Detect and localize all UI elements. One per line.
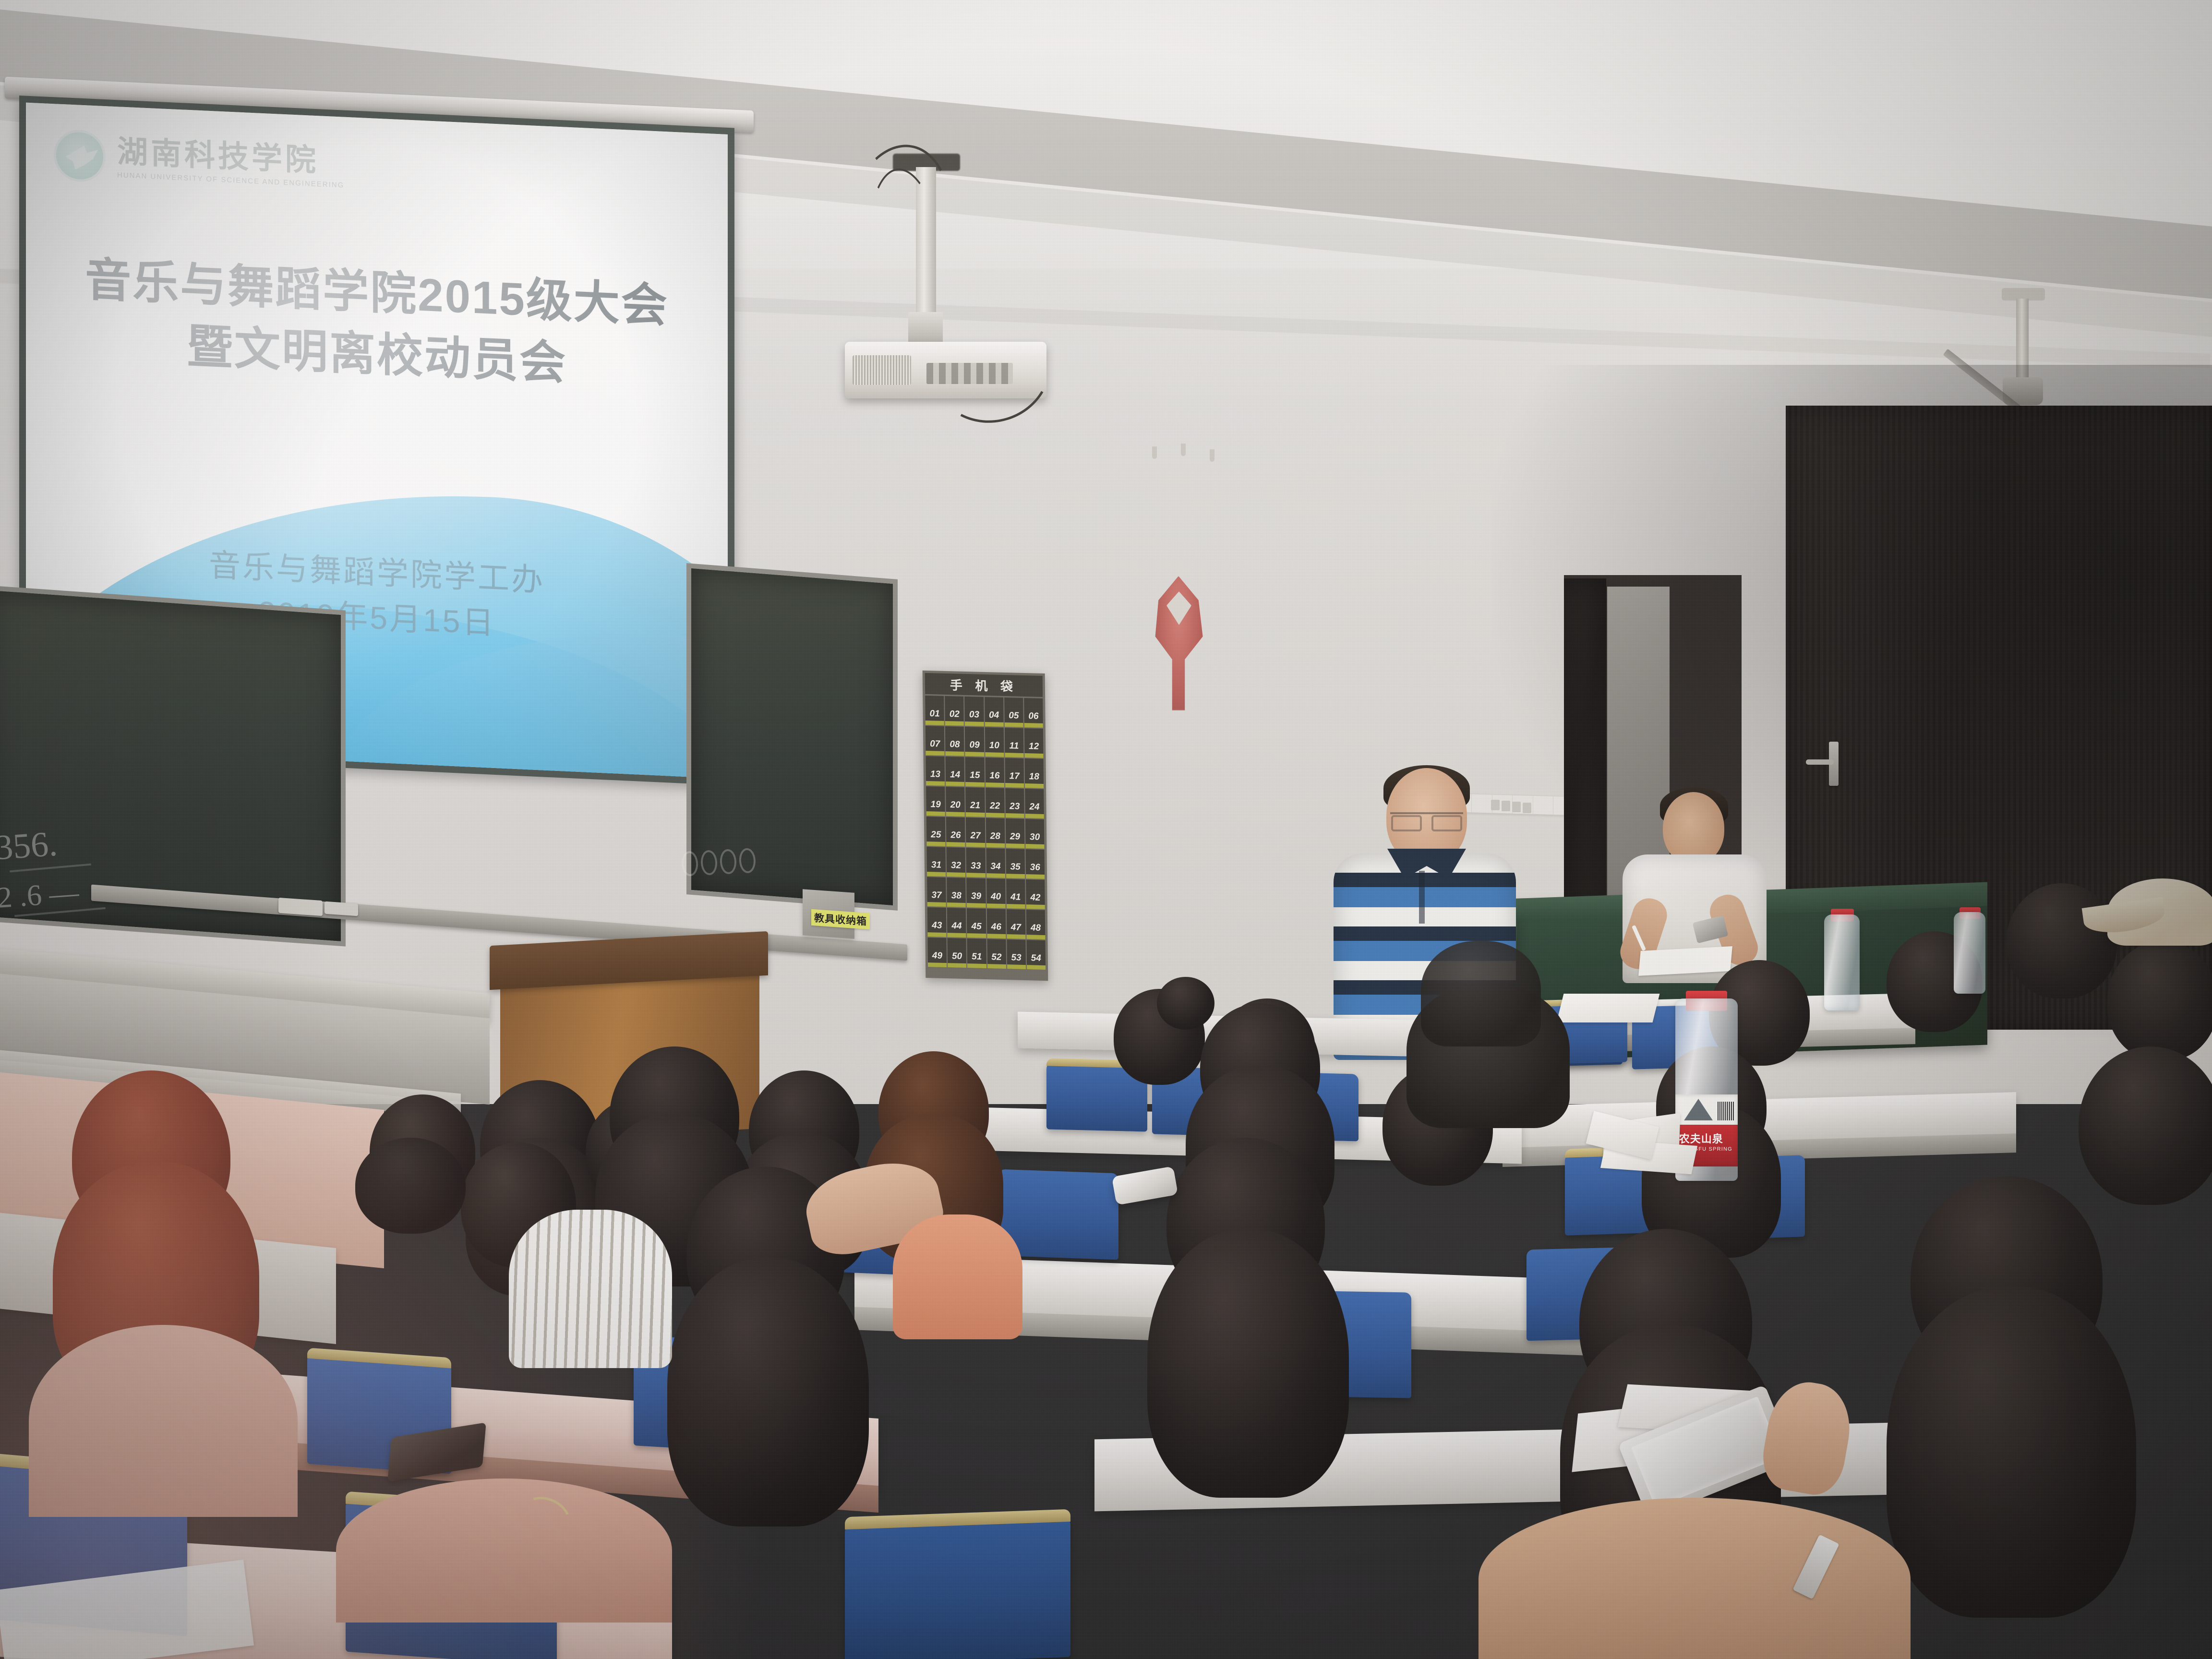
phone-pocket[interactable]: 22 — [986, 788, 1005, 817]
phone-pocket[interactable]: 14 — [946, 757, 965, 786]
phone-pocket[interactable]: 38 — [947, 878, 966, 907]
phone-pocket[interactable]: 50 — [948, 938, 967, 968]
chair[interactable] — [845, 1518, 1070, 1659]
phone-pocket[interactable]: 47 — [1006, 909, 1025, 939]
phone-pocket-number: 26 — [950, 830, 961, 841]
phone-pocket-number: 09 — [969, 740, 979, 751]
staff-note-taker — [1623, 787, 1767, 979]
phone-pocket-number: 11 — [1010, 741, 1019, 751]
phone-pocket-number: 12 — [1029, 741, 1039, 752]
note-paper — [1638, 946, 1732, 976]
university-logo: 湖南科技学院 HUNAN UNIVERSITY OF SCIENCE AND E… — [54, 129, 344, 193]
student-hair-long — [667, 1258, 869, 1527]
phone-pocket-number: 49 — [932, 950, 942, 962]
phone-pocket[interactable]: 42 — [1026, 879, 1045, 909]
phone-pocket[interactable]: 41 — [1006, 879, 1025, 909]
black-jacket — [1421, 941, 1541, 1046]
phone-pocket-number: 24 — [1029, 802, 1039, 813]
phone-pocket-number: 54 — [1031, 953, 1041, 964]
phone-pocket-number: 53 — [1011, 952, 1021, 963]
note-taker-head — [1663, 792, 1724, 864]
phone-pocket[interactable]: 04 — [985, 697, 1004, 727]
phone-pocket-number: 44 — [951, 921, 962, 932]
phone-pocket[interactable]: 18 — [1024, 758, 1044, 788]
phone-pocket[interactable]: 45 — [967, 908, 986, 938]
phone-pocket[interactable]: 08 — [945, 726, 964, 756]
phone-pocket[interactable]: 43 — [927, 907, 947, 937]
chalk-mark: 356. — [0, 824, 59, 869]
student-head — [2007, 883, 2117, 998]
bottle-body — [1954, 912, 1985, 994]
phone-pocket-number: 47 — [1011, 922, 1021, 933]
phone-pocket-number: 13 — [930, 769, 940, 780]
chalk-rings-mark — [681, 848, 757, 877]
phone-pocket-grid: 0102030405060708091011121314151617181920… — [925, 694, 1046, 970]
phone-pocket-number: 37 — [931, 890, 941, 901]
phone-pocket-number: 08 — [950, 739, 960, 750]
phone-pocket-number: 06 — [1028, 711, 1038, 722]
door-lever-handle[interactable] — [1806, 759, 1834, 765]
phone-pocket[interactable]: 11 — [1005, 728, 1024, 757]
phone-pocket-number: 04 — [989, 710, 999, 721]
phone-pocket-number: 20 — [950, 800, 961, 811]
phone-pocket-number: 19 — [930, 799, 940, 810]
phone-pocket[interactable]: 05 — [1004, 697, 1023, 727]
phone-pocket-number: 16 — [989, 770, 999, 781]
phone-pocket-number: 17 — [1009, 771, 1019, 782]
phone-pocket[interactable]: 26 — [946, 817, 965, 847]
power-socket-icon[interactable] — [1523, 803, 1531, 813]
ceiling-projector — [835, 154, 1066, 442]
phone-pocket-number: 51 — [972, 951, 982, 962]
chalk-mark: 2 .6 — — [0, 876, 80, 915]
phone-pocket[interactable]: 37 — [927, 877, 946, 907]
phone-pocket[interactable]: 27 — [966, 817, 985, 847]
student-head-capped — [355, 1138, 466, 1234]
student-striped-shirt — [509, 1210, 672, 1368]
phone-pocket-number: 48 — [1031, 923, 1041, 934]
phone-pocket[interactable]: 16 — [985, 757, 1004, 787]
phone-pocket-number: 43 — [932, 920, 942, 931]
ceiling-fan — [1949, 288, 2103, 422]
phone-pocket[interactable]: 01 — [925, 696, 944, 725]
phone-pocket-number: 22 — [990, 801, 1000, 812]
phone-pocket[interactable]: 28 — [986, 818, 1005, 848]
phone-pocket[interactable]: 29 — [1005, 818, 1024, 848]
phone-pocket[interactable]: 17 — [1005, 758, 1024, 788]
phone-pocket[interactable]: 25 — [926, 817, 946, 846]
phone-chart-header: 手 机 袋 — [925, 673, 1043, 697]
phone-pocket-number: 33 — [971, 861, 981, 872]
projector-vent — [853, 355, 911, 385]
student-arm-foreground — [1479, 1498, 1911, 1659]
university-name-cn: 湖南科技学院 — [117, 136, 344, 177]
phone-pocket-number: 36 — [1030, 862, 1040, 873]
phone-pocket[interactable]: 46 — [986, 909, 1006, 938]
blackboard-eraser — [278, 898, 323, 916]
phone-pocket-number: 28 — [990, 831, 1000, 842]
smartphone-white-midrow[interactable] — [1112, 1166, 1178, 1205]
student-orange-top — [893, 1214, 1022, 1339]
phone-pocket[interactable]: 10 — [985, 727, 1004, 757]
phone-pocket[interactable]: 02 — [945, 696, 964, 726]
phone-pocket[interactable]: 07 — [926, 726, 945, 756]
phone-pocket-number: 38 — [951, 890, 962, 902]
phone-pocket-number: 45 — [971, 921, 981, 932]
glasses-icon — [1390, 812, 1463, 827]
student-head — [2107, 941, 2212, 1061]
slide-title: 音乐与舞蹈学院2015级大会 暨文明离校动员会 — [26, 247, 728, 402]
phone-pocket[interactable]: 15 — [965, 757, 985, 787]
phone-pocket[interactable]: 24 — [1025, 789, 1044, 818]
water-bottle-secondary[interactable] — [1824, 914, 1860, 1010]
phone-pocket-number: 46 — [991, 922, 1001, 933]
phone-pocket-number: 42 — [1030, 892, 1040, 903]
classroom-scene: 湖南科技学院 HUNAN UNIVERSITY OF SCIENCE AND E… — [0, 0, 2212, 1659]
phone-pocket-number: 41 — [1010, 892, 1021, 903]
phone-pocket[interactable]: 35 — [1006, 849, 1025, 878]
phone-pocket-number: 15 — [970, 770, 980, 781]
phone-pocket-number: 39 — [971, 891, 981, 902]
student-hair-bun — [1157, 977, 1214, 1030]
phone-pocket[interactable]: 36 — [1025, 849, 1045, 879]
phone-pocket[interactable]: 20 — [946, 787, 965, 817]
phone-pocket-number: 32 — [951, 860, 961, 871]
wall-hook-icon — [1210, 449, 1214, 462]
phone-pocket-number: 21 — [970, 800, 980, 811]
phone-pocket-number: 07 — [930, 739, 940, 750]
phone-pocket[interactable]: 34 — [986, 848, 1005, 878]
phone-pocket-number: 03 — [969, 709, 979, 721]
phone-pocket-number: 14 — [950, 769, 960, 781]
phone-pocket-number: 34 — [990, 861, 1000, 872]
phone-pocket-number: 31 — [931, 860, 941, 871]
student-head — [2079, 1046, 2212, 1205]
phone-pocket-number: 29 — [1010, 831, 1020, 842]
phone-pocket-number: 52 — [991, 952, 1001, 963]
phone-pocket[interactable]: 40 — [986, 878, 1006, 908]
blackboard-eraser — [325, 902, 358, 916]
phone-pocket[interactable]: 44 — [947, 908, 966, 938]
phone-pocket[interactable]: 53 — [1007, 939, 1026, 969]
phone-pocket[interactable]: 31 — [926, 847, 946, 877]
student-arm-left-foreground — [336, 1479, 672, 1623]
barcode-icon — [1718, 1102, 1734, 1120]
phone-pocket[interactable]: 48 — [1026, 910, 1046, 939]
fan-downrod — [2016, 299, 2029, 380]
paper-sheet — [1557, 994, 1660, 1022]
phone-pocket[interactable]: 52 — [987, 939, 1006, 969]
bottle-body — [1824, 914, 1860, 1010]
phone-pocket[interactable]: 33 — [966, 848, 986, 878]
presenter-placket — [1419, 871, 1425, 924]
phone-pocket-number: 35 — [1010, 862, 1020, 873]
phone-pocket[interactable]: 03 — [965, 697, 984, 726]
phone-pocket[interactable]: 12 — [1024, 728, 1044, 758]
phone-pocket[interactable]: 21 — [966, 787, 985, 817]
phone-pocket[interactable]: 19 — [926, 786, 945, 816]
phone-pocket[interactable]: 51 — [967, 938, 986, 968]
phone-pocket[interactable]: 49 — [927, 938, 947, 967]
water-bottle-tertiary[interactable] — [1954, 912, 1985, 994]
phone-pocket[interactable]: 23 — [1005, 788, 1024, 818]
phone-pocket[interactable]: 06 — [1024, 698, 1043, 728]
phone-pocket-chart: 手 机 袋 0102030405060708091011121314151617… — [923, 671, 1048, 981]
phone-pocket-number: 01 — [929, 709, 939, 720]
phone-pocket-number: 02 — [950, 709, 960, 720]
phone-pocket[interactable]: 32 — [947, 847, 966, 877]
phone-pocket-number: 30 — [1030, 832, 1040, 843]
phone-pocket[interactable]: 54 — [1026, 940, 1046, 970]
phone-pocket[interactable]: 09 — [965, 727, 984, 757]
mountain-icon — [1684, 1099, 1713, 1120]
bottle-brand-cn: 农夫山泉 — [1679, 1130, 1723, 1146]
phone-pocket[interactable]: 39 — [966, 878, 986, 908]
phone-pocket-number: 23 — [1010, 801, 1020, 812]
student-hair-long — [1887, 1286, 2136, 1618]
wall-hook-icon — [1152, 446, 1157, 459]
bird-icon — [65, 144, 99, 171]
student-shoulder — [29, 1325, 298, 1517]
phone-pocket[interactable]: 30 — [1025, 819, 1045, 849]
student-hair-long — [1147, 1229, 1349, 1498]
phone-pocket-number: 10 — [989, 740, 999, 751]
phone-pocket[interactable]: 13 — [926, 756, 945, 786]
phone-pocket-number: 25 — [931, 829, 941, 841]
phone-pocket-number: 40 — [991, 891, 1001, 902]
phone-pocket-number: 27 — [970, 830, 980, 842]
phone-pocket-number: 50 — [952, 951, 962, 962]
university-emblem-icon — [54, 129, 106, 183]
phone-pocket-number: 05 — [1009, 710, 1019, 721]
wall-hook-icon — [1181, 444, 1186, 456]
phone-pocket-number: 18 — [1029, 771, 1039, 782]
